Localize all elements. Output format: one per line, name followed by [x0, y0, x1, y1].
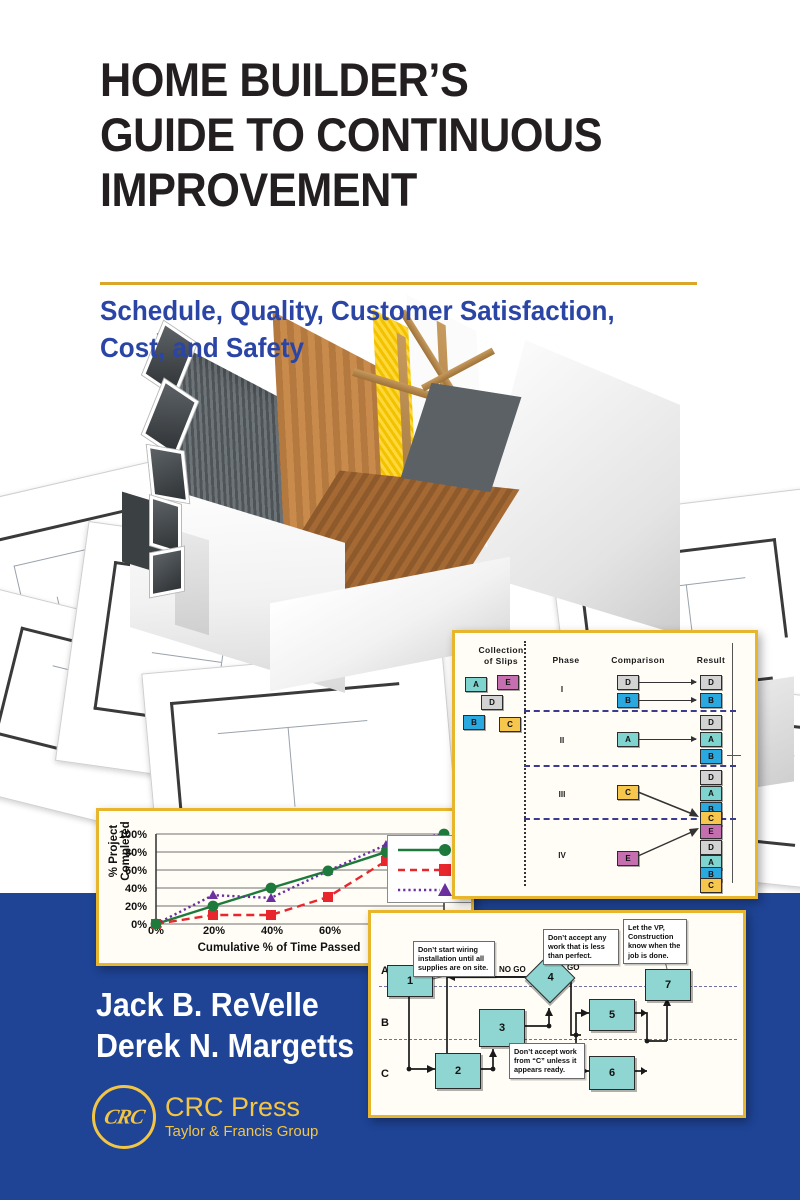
affinity-slip: E [497, 675, 519, 690]
affinity-result-slip: C [700, 878, 722, 893]
affinity-result-slip: D [700, 840, 722, 855]
affinity-arrow [637, 789, 703, 821]
flow-node-6: 6 [589, 1056, 635, 1090]
affinity-phase-label: IV [547, 851, 577, 860]
affinity-result-rail [732, 643, 733, 883]
publisher-imprint: Taylor & Francis Group [165, 1122, 318, 1141]
affinity-arrow [639, 682, 696, 683]
affinity-row-divider [524, 710, 736, 712]
flow-node-2: 2 [435, 1053, 481, 1089]
flow-callout-vp: Let the VP, Construction know when the j… [623, 919, 687, 964]
affinity-header-collection-1: Collection [461, 645, 541, 655]
subtitle-line-1: Schedule, Quality, Customer Satisfaction… [100, 292, 695, 329]
affinity-diagram-panel: Collection of Slips Phase Comparison Res… [452, 630, 758, 899]
affinity-slip: B [463, 715, 485, 730]
affinity-comparison-slip: D [617, 675, 639, 690]
title-divider-rule [100, 282, 697, 285]
affinity-comparison-slip: E [617, 851, 639, 866]
flow-callout-quality: Don’t accept any work that is less than … [543, 929, 619, 965]
publisher-text: CRC Press Taylor & Francis Group [165, 1093, 318, 1141]
title-line-3: IMPROVEMENT [100, 162, 670, 217]
affinity-comparison-slip: C [617, 785, 639, 800]
publisher-logo: CRC CRC Press Taylor & Francis Group [92, 1085, 318, 1149]
affinity-result-slip: A [700, 732, 722, 747]
book-cover: HOME BUILDER’S GUIDE TO CONTINUOUS IMPRO… [0, 0, 800, 1200]
book-subtitle: Schedule, Quality, Customer Satisfaction… [100, 292, 740, 366]
affinity-arrow [639, 700, 696, 701]
affinity-phase-label: III [547, 790, 577, 799]
affinity-divider [524, 641, 526, 886]
flow-callout-c-work: Don’t accept work from “C” unless it app… [509, 1043, 585, 1079]
flow-node-7: 7 [645, 969, 691, 1001]
affinity-header-result: Result [683, 655, 739, 665]
crc-mark-text: CRC [92, 1105, 155, 1130]
affinity-comparison-slip: A [617, 732, 639, 747]
flow-edge-label-nogo: NO GO [499, 965, 526, 974]
affinity-result-slip: D [700, 675, 722, 690]
book-title: HOME BUILDER’S GUIDE TO CONTINUOUS IMPRO… [100, 52, 720, 217]
affinity-arrow [637, 825, 703, 859]
flowchart-panel: A B C [368, 910, 746, 1118]
affinity-arrow [639, 739, 696, 740]
flow-node-3: 3 [479, 1009, 525, 1047]
affinity-result-slip: D [700, 715, 722, 730]
affinity-result-tick [727, 755, 741, 756]
affinity-header-phase: Phase [535, 655, 597, 665]
affinity-result-slip: B [700, 749, 722, 764]
affinity-result-slip: E [700, 824, 722, 839]
affinity-row-divider [524, 765, 736, 767]
affinity-header-collection-2: of Slips [461, 656, 541, 666]
subtitle-line-2: Cost, and Safety [100, 329, 695, 366]
title-line-1: HOME BUILDER’S [100, 52, 670, 107]
affinity-phase-label: II [547, 736, 577, 745]
affinity-slip: C [499, 717, 521, 732]
crc-roundel-icon: CRC [92, 1085, 156, 1149]
publisher-name: CRC Press [165, 1093, 318, 1122]
affinity-result-slip: D [700, 770, 722, 785]
author-2: Derek N. Margetts [96, 1025, 354, 1066]
affinity-phase-label: I [547, 685, 577, 694]
author-1: Jack B. ReVelle [96, 984, 354, 1025]
flow-callout-wiring: Don’t start wiring installation until al… [413, 941, 495, 977]
affinity-comparison-slip: B [617, 693, 639, 708]
affinity-slip: A [465, 677, 487, 692]
affinity-slip: D [481, 695, 503, 710]
affinity-header-comparison: Comparison [598, 655, 678, 665]
title-line-2: GUIDE TO CONTINUOUS [100, 107, 670, 162]
flow-node-5: 5 [589, 999, 635, 1031]
author-names: Jack B. ReVelle Derek N. Margetts [96, 984, 377, 1066]
house-model [150, 330, 670, 660]
affinity-result-slip: B [700, 693, 722, 708]
affinity-result-slip: A [700, 786, 722, 801]
